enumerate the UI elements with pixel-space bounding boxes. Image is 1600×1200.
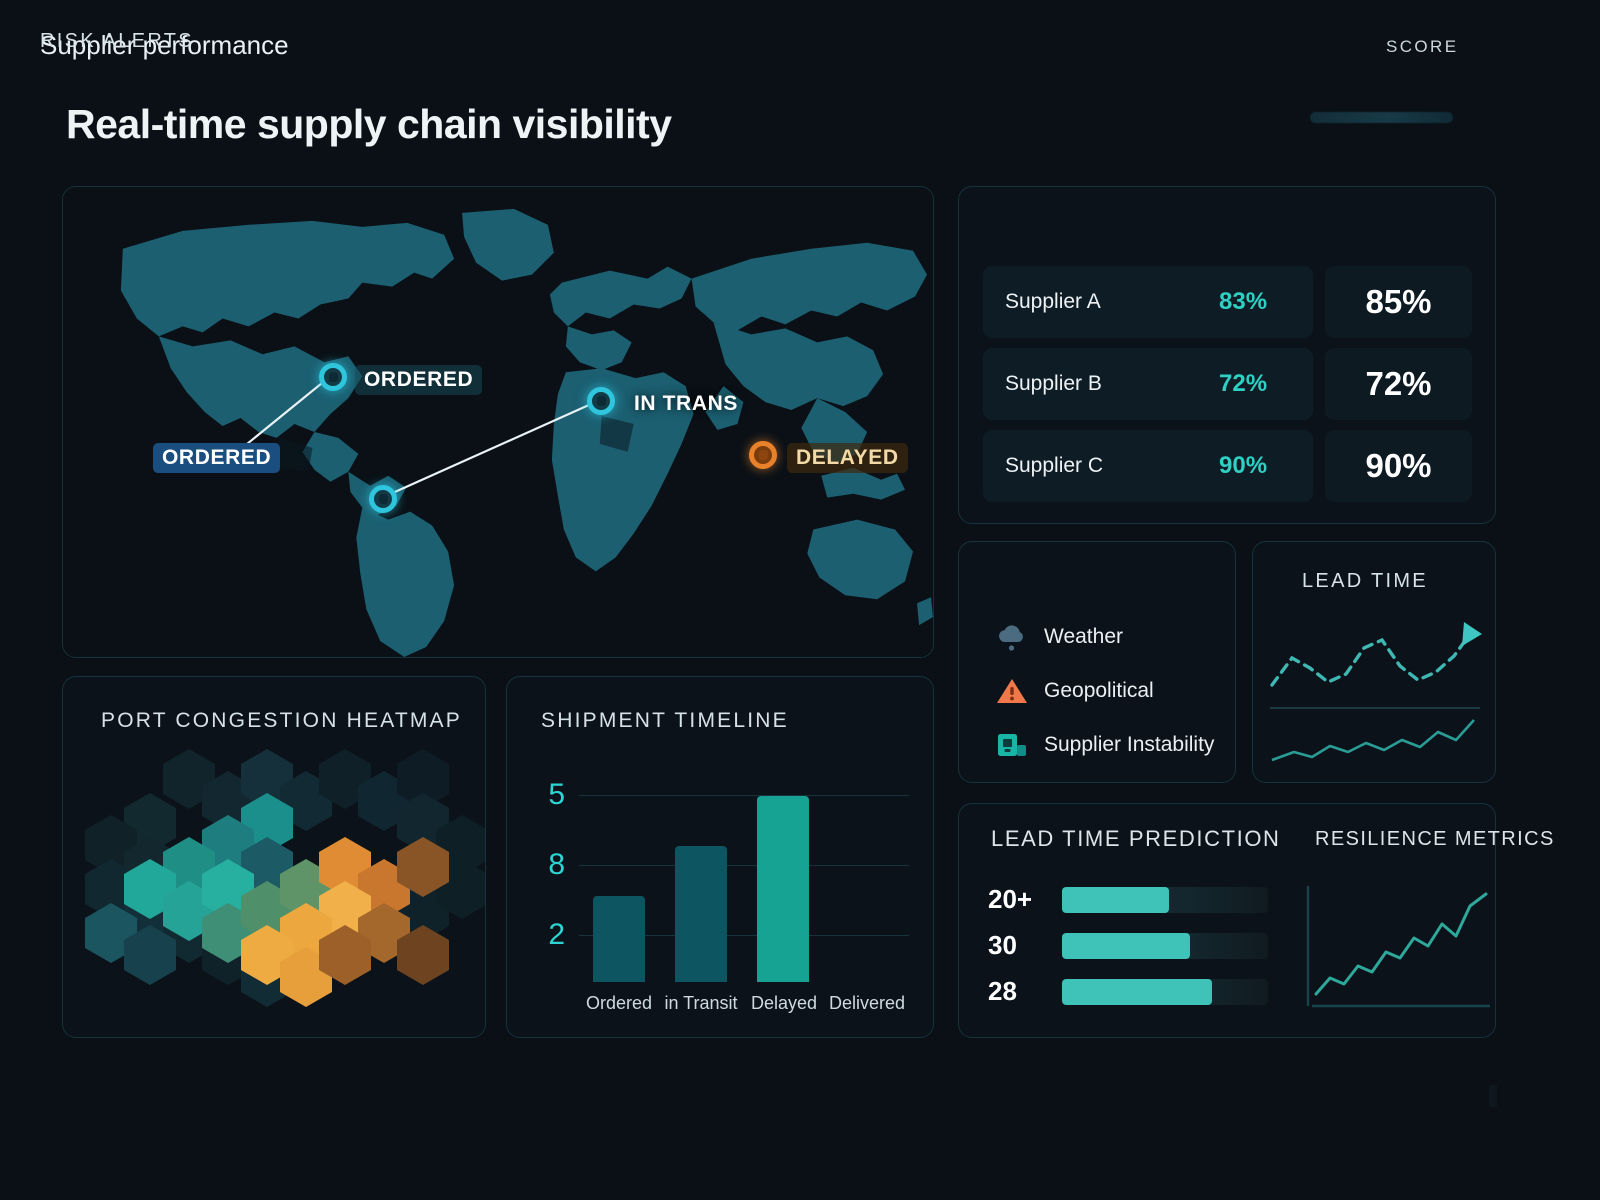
supplier-name: Supplier A <box>1005 290 1101 314</box>
bar-in-transit[interactable] <box>675 846 727 982</box>
ltp-row[interactable]: 28 <box>988 976 1268 1007</box>
risk-alerts-title: RISK ALERTS <box>40 30 194 53</box>
ltp-progress-fill <box>1062 887 1169 913</box>
lead-time-chart <box>1258 600 1490 775</box>
marker-dot-icon <box>749 441 777 469</box>
risk-alert-label: Weather <box>1044 625 1123 649</box>
ltp-row[interactable]: 30 <box>988 930 1268 961</box>
warning-triangle-icon <box>996 676 1028 706</box>
table-row[interactable]: Supplier B 72% <box>983 348 1313 420</box>
marker-dot-icon <box>319 363 347 391</box>
bar-delayed[interactable] <box>757 796 809 982</box>
dashboard-root: Real-time supply chain visibility <box>0 0 1600 1200</box>
risk-alert-label: Geopolitical <box>1044 679 1154 703</box>
grid-line <box>579 865 909 866</box>
marker-dot-icon <box>369 485 397 513</box>
ltp-label: 28 <box>988 976 1044 1007</box>
ltp-progress-track[interactable] <box>1062 979 1268 1005</box>
table-row[interactable]: Supplier C 90% <box>983 430 1313 502</box>
ltp-row[interactable]: 20+ <box>988 884 1268 915</box>
page-title: Real-time supply chain visibility <box>66 101 672 148</box>
ltp-progress-track[interactable] <box>1062 887 1268 913</box>
world-map-graphic <box>63 187 933 657</box>
x-axis-label: Delivered <box>829 993 905 1014</box>
x-axis-label: Ordered <box>586 993 652 1014</box>
shipment-timeline-panel: SHIPMENT TIMELINE 5 8 2 Ordered in Trans… <box>506 676 934 1038</box>
world-shipment-map-panel: ORDERED ORDERED IN TRANS DELAYED <box>62 186 934 658</box>
timeline-title: SHIPMENT TIMELINE <box>541 709 789 733</box>
supplier-score-box: 72% <box>1325 348 1472 420</box>
factory-icon <box>996 730 1028 760</box>
table-row[interactable]: Supplier A 83% <box>983 266 1313 338</box>
marker-dot-icon <box>587 387 615 415</box>
header-decorative-pill <box>1310 112 1453 123</box>
ltp-label: 30 <box>988 930 1044 961</box>
hexagon-heatmap-graphic <box>63 729 486 1029</box>
corner-artifact <box>1489 1085 1497 1107</box>
bar-ordered[interactable] <box>593 896 645 982</box>
risk-alert-geopolitical[interactable]: Geopolitical <box>996 676 1154 706</box>
port-congestion-heatmap-panel: PORT CONGESTION HEATMAP <box>62 676 486 1038</box>
y-axis-tick: 5 <box>548 778 565 812</box>
supplier-score: 72% <box>1365 365 1431 403</box>
lead-time-title: LEAD TIME <box>1302 570 1428 593</box>
x-axis-label: Delayed <box>751 993 817 1014</box>
supplier-score: 85% <box>1365 283 1431 321</box>
ltp-progress-fill <box>1062 933 1190 959</box>
risk-alert-supplier-instability[interactable]: Supplier Instability <box>996 730 1214 760</box>
grid-line <box>579 795 909 796</box>
risk-alert-weather[interactable]: Weather <box>996 622 1123 652</box>
score-column-header: SCORE <box>1386 37 1458 57</box>
y-axis-tick: 2 <box>548 918 565 952</box>
supplier-name: Supplier C <box>1005 454 1103 478</box>
risk-alert-label: Supplier Instability <box>1044 733 1214 757</box>
cloud-rain-icon <box>996 622 1028 652</box>
lead-time-prediction-title: LEAD TIME PREDICTION <box>991 826 1281 852</box>
map-marker-label: ORDERED <box>355 365 482 395</box>
shipment-timeline-chart: 5 8 2 Ordered in Transit Delayed Deliver… <box>579 767 909 982</box>
map-marker-label: ORDERED <box>153 443 280 473</box>
supplier-pct: 90% <box>1219 452 1267 480</box>
y-axis-tick: 8 <box>548 848 565 882</box>
map-marker-label: IN TRANS <box>625 389 747 419</box>
map-marker-label: DELAYED <box>787 443 908 473</box>
supplier-score-box: 85% <box>1325 266 1472 338</box>
ltp-progress-track[interactable] <box>1062 933 1268 959</box>
supplier-score-box: 90% <box>1325 430 1472 502</box>
supplier-name: Supplier B <box>1005 372 1102 396</box>
resilience-metrics-title: RESILIENCE METRICS <box>1315 826 1555 852</box>
supplier-pct: 83% <box>1219 288 1267 316</box>
supplier-pct: 72% <box>1219 370 1267 398</box>
x-axis-label: in Transit <box>664 993 737 1014</box>
supplier-score: 90% <box>1365 447 1431 485</box>
ltp-label: 20+ <box>988 884 1044 915</box>
ltp-progress-fill <box>1062 979 1212 1005</box>
resilience-metrics-chart <box>1300 880 1496 1020</box>
